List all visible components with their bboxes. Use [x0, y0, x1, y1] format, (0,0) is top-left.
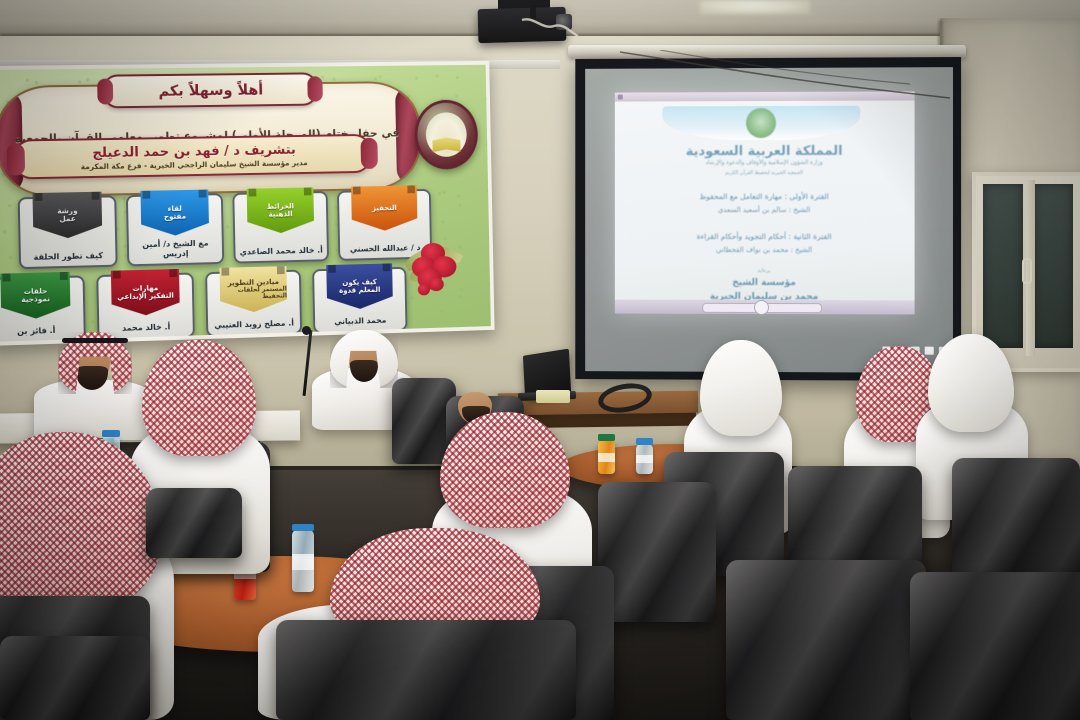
tray-icon: [925, 347, 934, 355]
slide-bullet-3: الفترة الثانية : أحكام التجويد وأحكام ال…: [615, 232, 915, 241]
card-ribbon: ميادين التطوير المستمر لحلقات التحفيظ: [219, 266, 287, 313]
ceiling-light: [700, 0, 810, 14]
slide-subtitle-1: وزارة الشؤون الإسلامية والأوقاف والدعوة …: [615, 160, 915, 167]
card-presenter-name: أ. مصلح زويد العتيبي: [208, 317, 300, 330]
slide-subtitle-2: الجمعية الخيرية لتحفيظ القرآن الكريم: [615, 170, 915, 176]
window-pane-right: [1033, 184, 1073, 348]
card-ribbon-line-1: التحفيز: [372, 204, 397, 213]
ribbon-tab-icon: [249, 189, 257, 197]
bottle-label: [636, 455, 653, 463]
emblem-inner: [425, 112, 467, 157]
chair: [952, 458, 1080, 588]
bottle-label: [598, 453, 615, 462]
card-ribbon: حلقات نموذجية: [0, 272, 70, 320]
banner-card: الخرائط الذهنية أ. خالد محمد الصاعدي: [232, 191, 329, 264]
card-ribbon: كيف يكون المعلم قدوة: [326, 263, 393, 309]
chair: [598, 482, 716, 622]
pill-cap-right: [307, 76, 323, 102]
card-presenter-name: أ. خالد محمد: [99, 321, 193, 334]
card-ribbon-line-2: عمل: [59, 215, 76, 224]
banner-welcome-pill: أهلاً وسهلاً بكم: [102, 72, 318, 108]
hanging-cable: [620, 50, 950, 100]
juice-bottle: [598, 440, 615, 474]
taskbar-circle-icon: [754, 300, 769, 315]
card-ribbon: الخرائط الذهنية: [247, 187, 315, 233]
card-presenter-name: أ. خالد محمد الصاعدي: [235, 245, 327, 257]
chair: [146, 488, 242, 558]
window-pane-left: [983, 184, 1023, 348]
screen-surface: المملكة العربية السعودية وزارة الشؤون ال…: [585, 67, 953, 373]
card-ribbon: لقاء مفتوح: [140, 190, 209, 237]
projector-cable: [520, 14, 580, 42]
chair: [726, 560, 926, 720]
slide-title: المملكة العربية السعودية: [615, 144, 915, 160]
ribbon-tab-icon: [113, 270, 121, 278]
ribbon-tab-icon: [199, 190, 207, 198]
card-ribbon-line-2: المستمر لحلقات التحفيظ: [220, 286, 287, 302]
event-banner: في حفل ختام (المرحلة الأولى) لمشروع تطوي…: [0, 61, 495, 346]
projected-slide: المملكة العربية السعودية وزارة الشؤون ال…: [615, 91, 915, 314]
card-ribbon: التحفيز: [351, 185, 417, 231]
slide-bullet-5: برعاية: [615, 268, 915, 274]
chair: [910, 572, 1080, 720]
ribbon-tab-icon: [221, 268, 229, 276]
water-bottle: [292, 530, 314, 592]
slide-crest-icon: [746, 108, 776, 138]
card-ribbon-line-2: التفكير الإبداعي: [117, 292, 174, 302]
projection-screen: المملكة العربية السعودية وزارة الشؤون ال…: [575, 57, 961, 381]
windows-taskbar: [615, 300, 915, 315]
ribbon-tab-icon: [92, 192, 100, 200]
banner-card: لقاء مفتوح مع الشيخ د/ أمين إدريس: [126, 193, 224, 266]
card-ribbon-line-2: مفتوح: [164, 213, 186, 222]
ribbon-tab-icon: [60, 272, 68, 280]
honor-cap-left: [7, 143, 26, 175]
ribbon-tab-icon: [407, 185, 415, 193]
card-presenter-name: محمد الذبياني: [315, 314, 405, 326]
banner-card: ميادين التطوير المستمر لحلقات التحفيظ أ.…: [205, 270, 302, 337]
slide-bullet-2: الشيخ : سالم بن أسعيد السعدي: [615, 206, 915, 214]
ribbon-tab-icon: [34, 193, 42, 201]
banner-card: حلقات نموذجية أ. فائز بن: [0, 275, 86, 344]
bottle-cap-icon: [292, 524, 314, 531]
ribbon-tab-icon: [2, 273, 10, 281]
card-ribbon: مهارات التفكير الإبداعي: [111, 269, 180, 316]
card-ribbon-line-2: الذهنية: [269, 210, 293, 219]
ribbon-tab-icon: [353, 186, 361, 194]
bottle-cap-icon: [636, 438, 653, 445]
pill-cap-left: [97, 79, 113, 105]
card-ribbon: ورشة عمل: [32, 192, 102, 239]
slide-bullet-4: الشيخ : محمد بن نواف القحطاني: [615, 246, 915, 254]
petal-icon: [429, 277, 444, 291]
banner-welcome-text: أهلاً وسهلاً بكم: [158, 81, 263, 100]
chair: [276, 620, 576, 720]
petal-icon: [418, 284, 430, 296]
bottle-label: [292, 554, 314, 570]
honor-cap-right: [360, 138, 378, 169]
water-bottle: [636, 444, 653, 474]
igal-icon: [62, 338, 128, 343]
bottle-cap-icon: [598, 434, 615, 441]
ribbon-tab-icon: [142, 191, 150, 199]
banner-card: مهارات التفكير الإبداعي أ. خالد محمد: [96, 272, 195, 340]
banner-card: ورشة عمل كيف تطور الحلقة: [18, 195, 118, 269]
microphone-icon: [302, 326, 311, 335]
bottle-cap-icon: [102, 430, 120, 437]
open-book-icon: [432, 137, 460, 152]
ribbon-tab-icon: [328, 265, 336, 273]
red-flower-decoration-icon: [406, 238, 467, 299]
card-presenter-name: أ. فائز بن: [0, 324, 84, 337]
chair: [0, 636, 150, 720]
card-ribbon-line-2: نموذجية: [21, 295, 50, 304]
slide-bullet-1: الفترة الأولى : مهارة التعامل مع المحفوظ: [615, 192, 915, 201]
banner-card: كيف يكون المعلم قدوة محمد الذبياني: [312, 267, 407, 334]
slide-bullet-6: مؤسسة الشيخ: [615, 278, 915, 289]
banner-honor-pill: بتشريف د / فهد بن حمد الدعيلج مدير مؤسسة…: [12, 134, 372, 180]
card-presenter-name: مع الشيخ د/ أمين إدريس: [129, 237, 222, 259]
window-handle-icon: [1022, 258, 1032, 284]
ribbon-tab-icon: [304, 187, 312, 195]
card-presenter-name: كيف تطور الحلقة: [21, 250, 116, 262]
tissue-box: [536, 390, 570, 403]
ribbon-tab-icon: [169, 269, 177, 277]
card-ribbon-line-2: المعلم قدوة: [339, 286, 380, 295]
conference-hall-photo: المملكة العربية السعودية وزارة الشؤون ال…: [0, 0, 1080, 720]
ribbon-tab-icon: [277, 266, 285, 274]
ribbon-tab-icon: [383, 263, 391, 271]
